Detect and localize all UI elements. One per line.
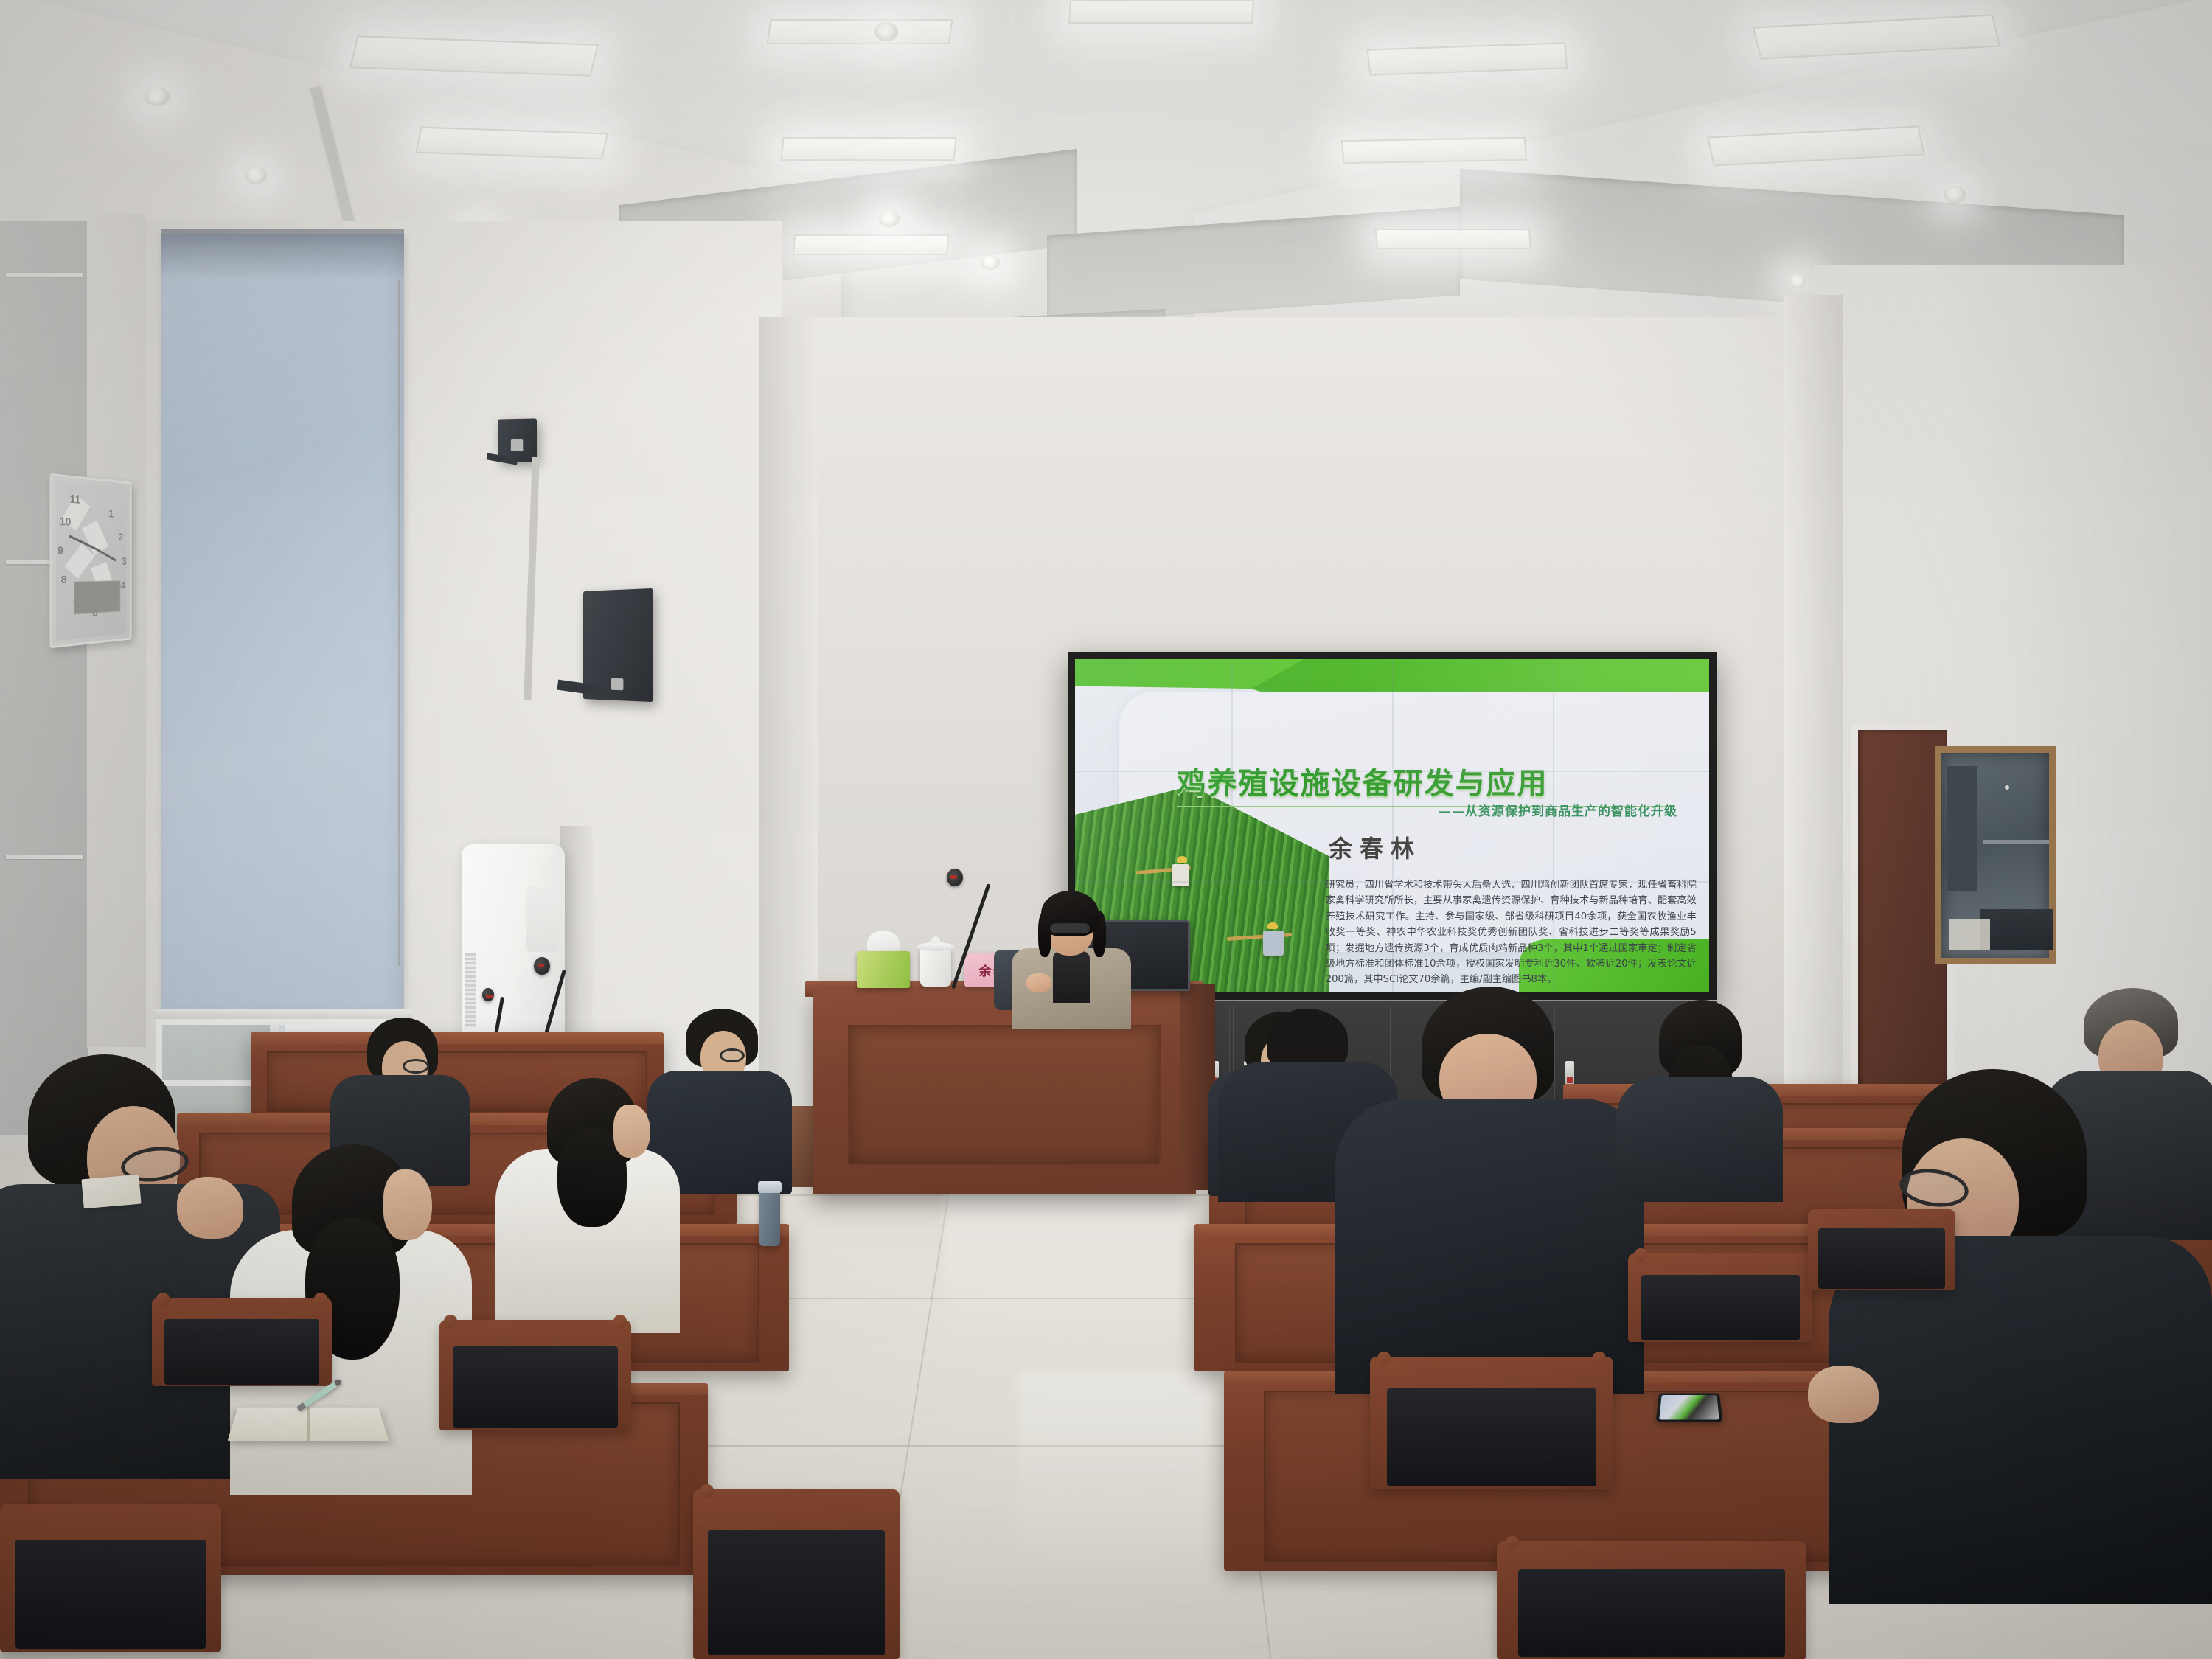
open-notebook[interactable] [227,1408,389,1441]
presenter-glasses [1050,923,1090,933]
ceiling-downlight-4 [874,22,898,41]
chair-knob-right [314,1293,327,1306]
chair-cushion [164,1319,319,1385]
window-roller-blind[interactable] [161,234,404,1016]
left-wall-column [759,317,818,1128]
ceiling-panel-light-10 [793,234,949,255]
ceiling-downlight-5 [879,211,900,227]
field-machine-1 [1172,864,1189,886]
person-head [613,1105,650,1158]
chair-cushion [15,1540,206,1649]
clock-hour-hand [96,548,116,561]
person-hand [177,1177,243,1239]
chair-cushion [1818,1228,1945,1288]
chair-knob-left [1506,1536,1519,1549]
chair-cushion [453,1346,618,1428]
booth-equipment [1980,909,2053,950]
slide-speaker-bio: 研究员，四川省学术和技术带头人后备人选、四川鸡创新团队首席专家，现任省畜科院家禽… [1326,877,1697,988]
clock-number-8: 8 [61,574,67,587]
chair-cushion [1518,1569,1784,1656]
slide-subtitle: ——从资源保护到商品生产的智能化升级 [1439,801,1677,819]
clock-number-11: 11 [70,493,80,507]
chair-right-4[interactable] [1808,1209,1955,1290]
worker-hat-3 [1267,922,1278,929]
clock-number-2: 2 [118,531,123,543]
air-conditioner-unit[interactable] [462,844,565,1036]
chair-left-3[interactable] [0,1504,221,1652]
cabinet-handle-4[interactable] [1565,1061,1574,1086]
ceiling-downlight-1 [145,87,170,106]
speaker-badge-icon-2 [611,678,624,691]
smartphone-on-desk[interactable] [1656,1393,1723,1422]
presenter-hand [1026,973,1051,992]
chair-knob-left [156,1293,170,1306]
clock-face: 11 10 9 8 7 6 5 4 3 2 1 [56,481,126,641]
ceiling-downlight-2 [245,167,267,184]
speaker-badge-icon [511,439,523,451]
ceiling-panel-light-1 [349,35,599,77]
blind-top-shadow [161,229,404,280]
wall-clock: 11 10 9 8 7 6 5 4 3 2 1 [49,473,131,649]
ceiling-downlight-6 [981,255,1000,270]
field-machine-3 [1263,931,1284,956]
chair-knob-left [444,1315,457,1328]
person-hand [1808,1366,1879,1423]
control-booth-window [1935,746,2056,964]
booth-interior-cabinet [1947,766,1977,891]
slide-speaker-name: 余春林 [1329,830,1422,864]
smartphone-screen[interactable] [1659,1395,1719,1419]
clock-display-window [74,580,120,615]
tea-cup[interactable] [920,948,951,987]
floor-light-reflection-1 [944,1180,1187,1357]
ceiling-panel-light-5 [1068,0,1254,24]
ceiling-downlight-8 [1789,274,1806,288]
person-body [1829,1236,2212,1604]
chair-left-1[interactable] [152,1298,332,1386]
water-bottle-cap[interactable] [758,1181,782,1193]
chair-cushion [1387,1388,1596,1486]
podium-front-panel [848,1025,1161,1165]
chair-knob-left [1634,1248,1647,1262]
presenter-inner-top [1053,951,1090,1003]
left-pilaster [0,221,88,1135]
ceiling-panel-light-4 [780,137,956,161]
worker-hat-1 [1177,856,1187,863]
chair-right-3[interactable] [1497,1541,1806,1659]
chair-knob-right [1593,1352,1606,1365]
chair-cushion [1641,1275,1800,1340]
chair-knob-right [613,1315,627,1328]
ac-vent-grille [465,953,476,1027]
person-body [1335,1099,1644,1394]
clock-number-3: 3 [122,555,127,567]
right-wall-column [1784,295,1843,1165]
chair-right-2[interactable] [1628,1253,1812,1342]
chair-knob-left [1377,1352,1391,1365]
person-head [383,1169,432,1240]
podium-microphone-head-2 [534,957,550,975]
floor-light-reflection-2 [1018,1371,1209,1593]
water-bottle[interactable] [759,1189,780,1246]
tissue-box[interactable] [857,951,910,988]
ceiling-panel-light-7 [1341,137,1527,164]
booth-indicator-dot [2005,785,2009,790]
ceiling-panel-light-3 [767,19,953,44]
notebook-spine [307,1408,310,1441]
ac-control-panel[interactable] [526,886,559,952]
person-glasses [403,1059,429,1074]
desk-surface [251,1032,664,1044]
chair-right-1[interactable] [1370,1357,1613,1489]
ceiling-panel-light-11 [1375,229,1531,249]
blind-pull-cord[interactable] [398,280,400,966]
chair-knob-left [700,1484,714,1498]
person-body [1616,1077,1783,1202]
ceiling-downlight-7 [1944,186,1966,204]
booth-shelf [1983,840,2049,844]
clock-number-9: 9 [58,544,63,557]
clock-number-1: 1 [108,508,114,521]
tea-cup-knob [931,936,940,944]
wall-column-stub [560,826,593,1047]
ceiling-panel-light-6 [1367,42,1568,75]
chair-cushion [708,1530,886,1655]
clock-number-4: 4 [121,580,126,592]
podium-microphone-head-1 [947,869,963,886]
chair-left-4[interactable] [693,1489,900,1659]
clock-number-10: 10 [60,515,72,528]
binder-document[interactable] [81,1175,141,1209]
chair-left-2[interactable] [439,1320,631,1430]
booth-light-object [1949,919,1990,950]
person-glasses [720,1048,745,1062]
aisle-microphone-head [482,988,494,1001]
conference-room-scene: 11 10 9 8 7 6 5 4 3 2 1 [0,0,2212,1659]
